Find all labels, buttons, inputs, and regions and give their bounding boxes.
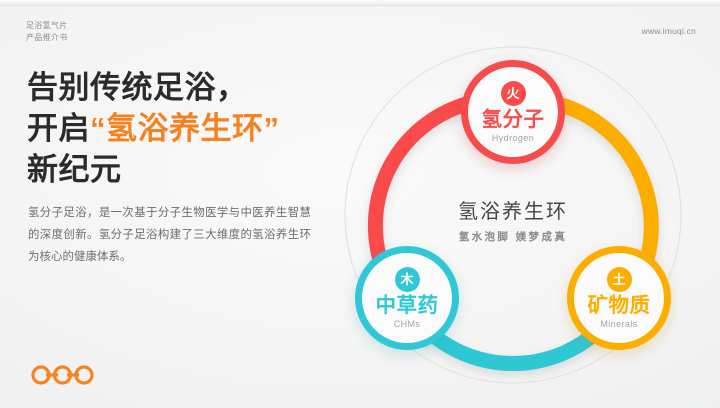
- headline-line-3: 新纪元: [27, 150, 357, 191]
- molecule-icon: [31, 364, 94, 391]
- node-title-minerals: 矿物质: [588, 294, 651, 318]
- headline-accent-text: “氢浴养生环”: [90, 111, 280, 146]
- diagram-node-hydrogen[interactable]: 火 氢分子 Hydrogen: [461, 60, 565, 164]
- hydrogen-wellness-ring-diagram: 氢浴养生环 氢水泡脚 媄梦成真 火 氢分子 Hydrogen 木 中草药 CHM…: [338, 40, 688, 390]
- node-title-chms: 中草药: [376, 294, 439, 318]
- element-badge-fire: 火: [501, 81, 526, 106]
- element-badge-earth: 土: [607, 267, 632, 292]
- site-url: www.imuqi.cn: [642, 26, 696, 36]
- node-subtitle-minerals: Minerals: [600, 319, 637, 329]
- headline-line-2-prefix: 开启: [27, 111, 90, 146]
- diagram-node-minerals[interactable]: 土 矿物质 Minerals: [567, 246, 671, 350]
- node-subtitle-hydrogen: Hydrogen: [492, 133, 534, 143]
- arc-chms-cyan: [434, 336, 592, 364]
- element-badge-wood: 木: [395, 267, 420, 292]
- page-title: 告别传统足浴， 开启“氢浴养生环” 新纪元: [27, 68, 357, 191]
- slide-canvas: 足浴氢气片 产品推介书 www.imuqi.cn 告别传统足浴， 开启“氢浴养生…: [0, 0, 720, 408]
- headline-line-1: 告别传统足浴，: [27, 68, 357, 109]
- headline-line-2: 开启“氢浴养生环”: [27, 109, 357, 150]
- document-kicker: 足浴氢气片 产品推介书: [26, 20, 68, 45]
- diagram-node-chms[interactable]: 木 中草药 CHMs: [355, 246, 459, 350]
- node-title-hydrogen: 氢分子: [482, 108, 545, 132]
- node-subtitle-chms: CHMs: [394, 319, 421, 329]
- body-paragraph: 氢分子足浴，是一次基于分子生物医学与中医养生智慧的深度创新。氢分子足浴构建了三大…: [28, 203, 311, 269]
